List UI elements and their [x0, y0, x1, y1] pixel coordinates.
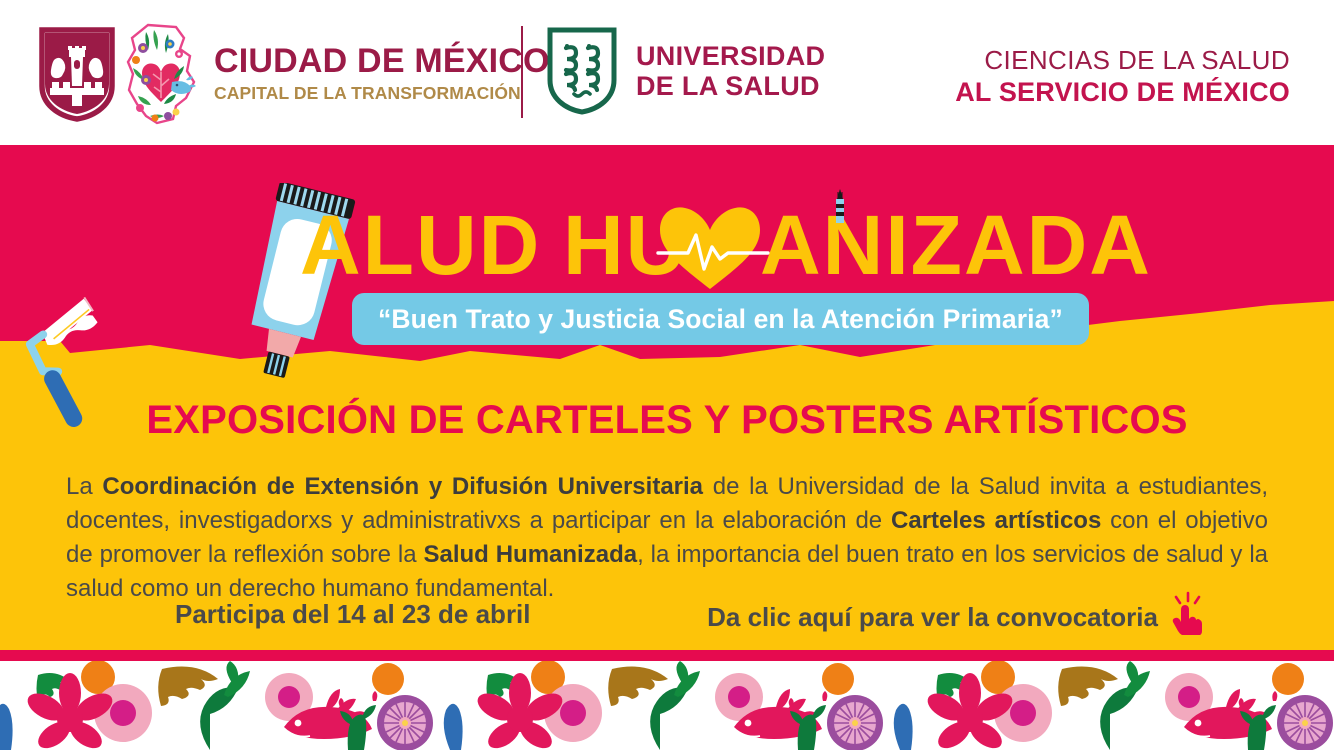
cdmx-title: CIUDAD DE MÉXICO	[214, 44, 550, 78]
convocatoria-link[interactable]: Da clic aquí para ver la convocatoria	[707, 599, 1208, 635]
slogan-line-1: CIENCIAS DE LA SALUD	[955, 46, 1290, 75]
cdmx-heart-map-icon	[124, 22, 198, 126]
convocatoria-link-label: Da clic aquí para ver la convocatoria	[707, 602, 1158, 633]
para-bold-1: Coordinación de Extensión y Difusión Uni…	[102, 473, 703, 500]
footer-decorative-band	[0, 650, 1334, 750]
para-bold-3: Salud Humanizada	[423, 541, 637, 568]
participation-dates: Participa del 14 al 23 de abril	[175, 599, 531, 630]
click-hand-icon	[1168, 591, 1208, 635]
university-logo-group: UNIVERSIDAD DE LA SALUD	[546, 26, 825, 116]
page-header: CIUDAD DE MÉXICO CAPITAL DE LA TRANSFORM…	[0, 0, 1334, 145]
header-slogan: CIENCIAS DE LA SALUD AL SERVICIO DE MÉXI…	[955, 46, 1290, 107]
hero-word-salud: ALUD	[300, 203, 541, 287]
university-serpent-shield-icon	[546, 26, 618, 116]
paintbrush-icon	[832, 189, 848, 223]
poster-body: ALUD HU ANIZADA “Buen Trato y Justicia S…	[0, 145, 1334, 650]
header-divider	[521, 26, 523, 118]
cdmx-wordmark: CIUDAD DE MÉXICO CAPITAL DE LA TRANSFORM…	[214, 44, 550, 104]
university-wordmark: UNIVERSIDAD DE LA SALUD	[636, 41, 825, 102]
hero-title-row: ALUD HU ANIZADA	[0, 175, 1334, 295]
slogan-line-2: AL SERVICIO DE MÉXICO	[955, 77, 1290, 107]
subtitle-text: “Buen Trato y Justicia Social en la Aten…	[378, 304, 1063, 335]
footer-stripe	[0, 650, 1334, 661]
cdmx-subtitle: CAPITAL DE LA TRANSFORMACIÓN	[214, 83, 550, 104]
heart-ecg-icon	[652, 201, 770, 293]
cdmx-logo-group: CIUDAD DE MÉXICO CAPITAL DE LA TRANSFORM…	[38, 22, 550, 126]
para-text-1: La	[66, 473, 102, 500]
intro-paragraph: La Coordinación de Extensión y Difusión …	[66, 470, 1268, 606]
university-line-2: DE LA SALUD	[636, 71, 825, 102]
para-bold-2: Carteles artísticos	[891, 507, 1101, 534]
university-line-1: UNIVERSIDAD	[636, 41, 825, 72]
hero-word-anizada: ANIZADA	[760, 203, 1152, 287]
cdmx-coat-of-arms-icon	[38, 26, 116, 122]
page-heading: EXPOSICIÓN DE CARTELES Y POSTERS ARTÍSTI…	[0, 398, 1334, 443]
call-to-action-row: Participa del 14 al 23 de abril Da clic …	[0, 597, 1334, 647]
mexican-folk-art-border-pattern	[0, 661, 1334, 750]
subtitle-banner: “Buen Trato y Justicia Social en la Aten…	[352, 293, 1089, 345]
